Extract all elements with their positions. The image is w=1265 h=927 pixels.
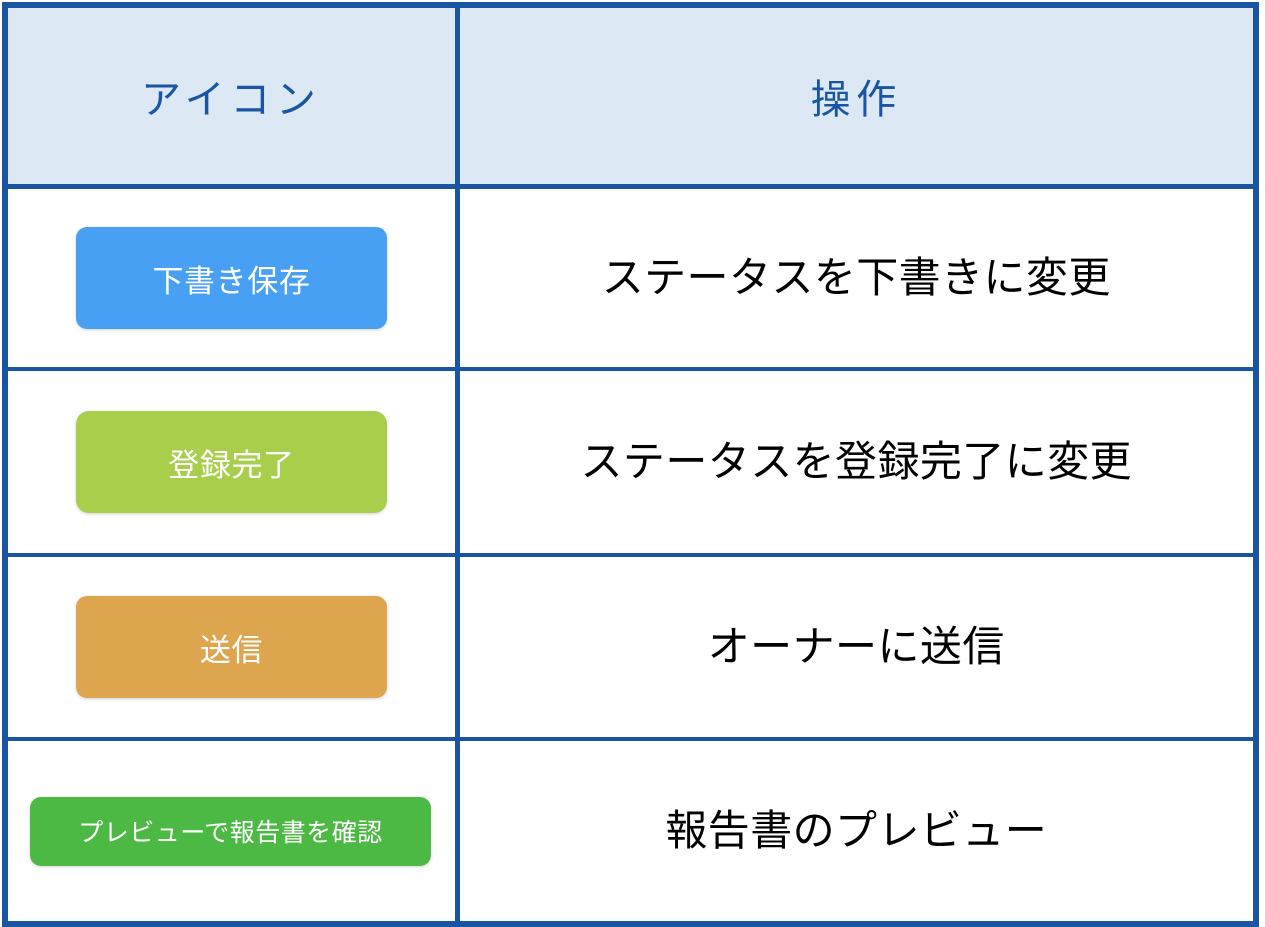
- table-row: 下書き保存 ステータスを下書きに変更: [5, 187, 1256, 370]
- icon-cell-registration-complete: 登録完了: [5, 369, 457, 555]
- icon-action-legend-table: アイコン 操作 下書き保存 ステータスを下書きに変更 登録完了: [2, 2, 1259, 927]
- action-description-preview-report: 報告書のプレビュー: [457, 739, 1256, 924]
- icon-cell-send: 送信: [5, 555, 457, 739]
- action-description-send: オーナーに送信: [457, 555, 1256, 739]
- action-description-registration-complete: ステータスを登録完了に変更: [457, 369, 1256, 555]
- icon-cell-save-draft: 下書き保存: [5, 187, 457, 370]
- table-header: アイコン 操作: [5, 5, 1256, 187]
- table-header-row: アイコン 操作: [5, 5, 1256, 187]
- save-draft-button[interactable]: 下書き保存: [76, 227, 387, 329]
- button-container: 送信: [8, 557, 455, 737]
- registration-complete-button[interactable]: 登録完了: [76, 411, 387, 513]
- legend-page: アイコン 操作 下書き保存 ステータスを下書きに変更 登録完了: [0, 0, 1265, 910]
- button-container: 下書き保存: [8, 189, 455, 367]
- table-row: プレビューで報告書を確認 報告書のプレビュー: [5, 739, 1256, 924]
- table-row: 登録完了 ステータスを登録完了に変更: [5, 369, 1256, 555]
- table-body: 下書き保存 ステータスを下書きに変更 登録完了 ステータスを登録完了に変更 送信: [5, 187, 1256, 925]
- button-container: 登録完了: [8, 371, 455, 553]
- column-header-icon: アイコン: [5, 5, 457, 187]
- table-row: 送信 オーナーに送信: [5, 555, 1256, 739]
- action-description-save-draft: ステータスを下書きに変更: [457, 187, 1256, 370]
- icon-cell-preview-report: プレビューで報告書を確認: [5, 739, 457, 924]
- preview-report-button[interactable]: プレビューで報告書を確認: [30, 797, 431, 866]
- button-container: プレビューで報告書を確認: [8, 741, 455, 921]
- send-button[interactable]: 送信: [76, 596, 387, 698]
- column-header-action: 操作: [457, 5, 1256, 187]
